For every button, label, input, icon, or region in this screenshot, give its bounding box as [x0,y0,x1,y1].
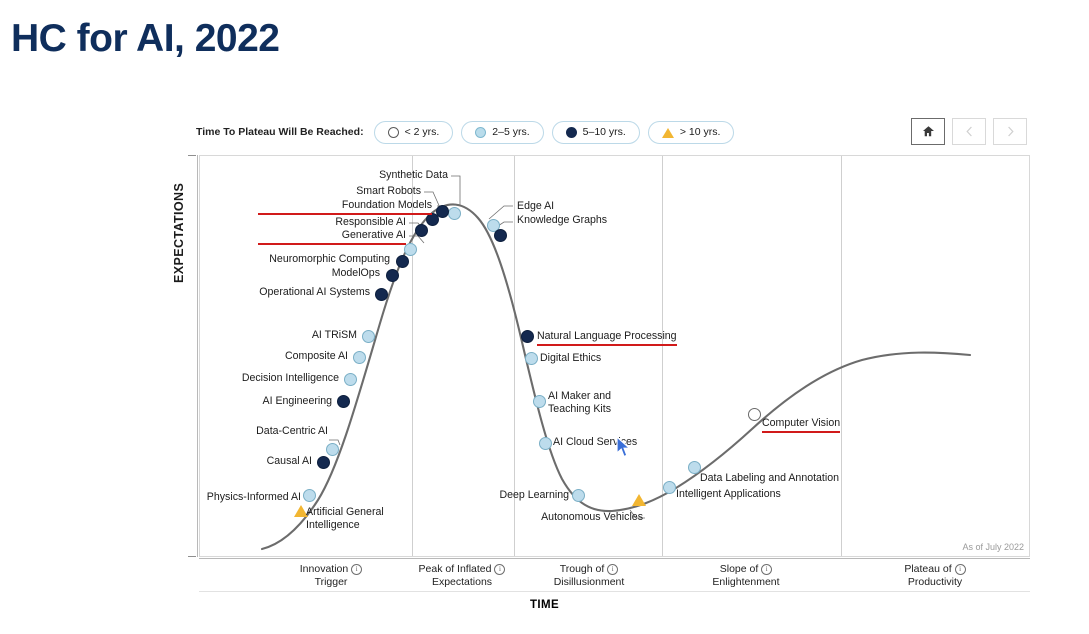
info-icon[interactable]: i [761,564,772,575]
next-button[interactable] [993,118,1027,145]
legend-pill-label: < 2 yrs. [405,127,440,138]
legend: Time To Plateau Will Be Reached: < 2 yrs… [196,120,734,144]
x-axis-title: TIME [0,599,1089,611]
datapoint-operational-ai-systems[interactable] [375,288,388,301]
label-data-centric-ai: Data-Centric AI [218,425,328,438]
label-data-labeling-and-annotation: Data Labeling and Annotation [700,472,839,485]
datapoint-causal-ai[interactable] [317,456,330,469]
phase-line1: Plateau of [904,563,951,575]
datapoint-autonomous-vehicles[interactable] [632,494,646,506]
label-edge-ai: Edge AI [517,200,554,213]
datapoint-ai-cloud-services[interactable] [539,437,552,450]
label-neuromorphic-computing: Neuromorphic Computing [232,253,390,266]
label-ai-maker-and-teaching-kits: AI Maker and Teaching Kits [548,390,630,416]
legend-pill-label: 5–10 yrs. [583,127,626,138]
label-digital-ethics: Digital Ethics [540,352,601,365]
home-icon [922,125,935,138]
legend-pill-under-2-yrs[interactable]: < 2 yrs. [374,121,454,144]
phase-line1: Peak of Inflated [419,563,492,575]
label-modelops: ModelOps [232,267,380,280]
as-of-date-note: As of July 2022 [962,542,1024,552]
page-title: HC for AI, 2022 [11,17,279,61]
label-ai-trism: AI TRiSM [252,329,357,342]
chart-nav-toolbar [911,118,1027,145]
label-smart-robots: Smart Robots [268,185,421,198]
phase-label-trough-of-disillusionment: Trough ofi Disillusionment [509,563,669,589]
info-icon[interactable]: i [607,564,618,575]
chevron-left-icon [964,125,975,138]
datapoint-responsible-ai[interactable] [415,224,428,237]
label-foundation-models[interactable]: Foundation Models [258,199,432,215]
legend-pill-2-5-yrs[interactable]: 2–5 yrs. [461,121,543,144]
label-causal-ai: Causal AI [222,455,312,468]
label-knowledge-graphs: Knowledge Graphs [517,214,607,227]
legend-pill-label: 2–5 yrs. [492,127,529,138]
datapoint-digital-ethics[interactable] [525,352,538,365]
legend-pill-label: > 10 yrs. [680,127,721,138]
label-ai-cloud-services: AI Cloud Services [553,436,637,449]
prev-button[interactable] [952,118,986,145]
y-axis-title: EXPECTATIONS [172,143,186,283]
label-ai-engineering: AI Engineering [222,395,332,408]
label-computer-vision[interactable]: Computer Vision [762,417,840,433]
circle-dark-icon [566,127,577,138]
phase-line2: Enlightenment [666,576,826,589]
label-natural-language-processing[interactable]: Natural Language Processing [537,330,677,346]
phase-label-plateau-of-productivity: Plateau ofi Productivity [855,563,1015,589]
phase-divider [841,156,842,556]
phase-line1: Slope of [720,563,759,575]
info-icon[interactable]: i [494,564,505,575]
datapoint-composite-ai[interactable] [353,351,366,364]
label-autonomous-vehicles: Autonomous Vehicles [508,511,643,524]
phase-line2: Productivity [855,576,1015,589]
phase-divider [662,156,663,556]
phase-axis-strip: Innovationi Trigger Peak of Inflatedi Ex… [199,558,1030,592]
datapoint-neuromorphic-computing[interactable] [396,255,409,268]
label-physics-informed-ai: Physics-Informed AI [183,491,301,504]
phase-line1: Innovation [300,563,348,575]
info-icon[interactable]: i [955,564,966,575]
label-composite-ai: Composite AI [232,350,348,363]
y-axis-tick-bottom [188,556,196,557]
home-button[interactable] [911,118,945,145]
phase-line2: Disillusionment [509,576,669,589]
label-generative-ai[interactable]: Generative AI [258,229,406,245]
datapoint-ai-maker-and-teaching-kits[interactable] [533,395,546,408]
datapoint-computer-vision[interactable] [748,408,761,421]
circle-light-icon [475,127,486,138]
datapoint-ai-trism[interactable] [362,330,375,343]
chevron-right-icon [1005,125,1016,138]
datapoint-data-centric-ai[interactable] [326,443,339,456]
datapoint-deep-learning[interactable] [572,489,585,502]
label-intelligent-applications: Intelligent Applications [676,488,781,501]
label-operational-ai-systems: Operational AI Systems [220,286,370,299]
phase-divider [412,156,413,556]
info-icon[interactable]: i [351,564,362,575]
label-artificial-general-intelligence: Artificial General Intelligence [306,506,398,532]
datapoint-ai-engineering[interactable] [337,395,350,408]
legend-pill-5-10-yrs[interactable]: 5–10 yrs. [552,121,640,144]
datapoint-decision-intelligence[interactable] [344,373,357,386]
datapoint-synthetic-data[interactable] [448,207,461,220]
phase-line1: Trough of [560,563,605,575]
datapoint-intelligent-applications[interactable] [663,481,676,494]
legend-title: Time To Plateau Will Be Reached: [196,126,364,138]
phase-label-slope-of-enlightenment: Slope ofi Enlightenment [666,563,826,589]
datapoint-modelops[interactable] [386,269,399,282]
y-axis-tick-top [188,155,196,156]
label-synthetic-data: Synthetic Data [300,169,448,182]
label-deep-learning: Deep Learning [452,489,569,502]
triangle-yellow-icon [662,128,674,138]
label-decision-intelligence: Decision Intelligence [218,372,339,385]
datapoint-physics-informed-ai[interactable] [303,489,316,502]
datapoint-natural-language-processing[interactable] [521,330,534,343]
circle-hollow-icon [388,127,399,138]
label-responsible-ai: Responsible AI [258,216,406,229]
datapoint-knowledge-graphs[interactable] [494,229,507,242]
legend-pill-over-10-yrs[interactable]: > 10 yrs. [648,121,735,144]
